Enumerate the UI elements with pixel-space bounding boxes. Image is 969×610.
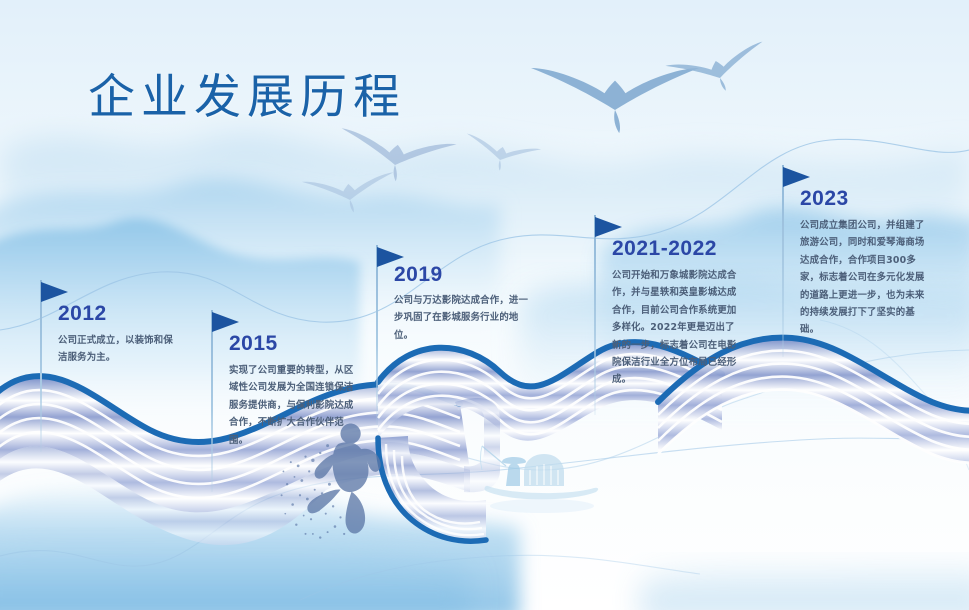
flag-marker-2023: [783, 167, 810, 187]
milestone-2012: 2012 公司正式成立，以装饰和保洁服务为主。: [40, 280, 200, 460]
milestone-text-2023: 公司成立集团公司，并组建了旅游公司，同时和爱琴海商场达成合作，合作项目300多家…: [800, 217, 928, 339]
milestone-2021-2022: 2021-2022 公司开始和万象城影院达成合作，并与星轶和英皇影城达成合作，目…: [594, 215, 784, 425]
milestone-2023: 2023 公司成立集团公司，并组建了旅游公司，同时和爱琴海商场达成合作，合作项目…: [782, 165, 967, 365]
milestone-text-2012: 公司正式成立，以装饰和保洁服务为主。: [58, 332, 176, 367]
milestone-text-2021-2022: 公司开始和万象城影院达成合作，并与星轶和英皇影城达成合作，目前公司合作系统更加多…: [612, 267, 740, 389]
year-label-2019: 2019: [394, 263, 443, 287]
flag-marker-2015: [212, 312, 239, 332]
milestone-text-2019: 公司与万达影院达成合作，进一步巩固了在影城服务行业的地位。: [394, 292, 534, 344]
flag-marker-2012: [41, 282, 68, 302]
seagull-icon: [665, 42, 771, 104]
seagull-icon: [335, 128, 456, 189]
year-label-2015: 2015: [229, 332, 278, 356]
year-label-2021-2022: 2021-2022: [612, 237, 717, 261]
flag-marker-2021-2022: [595, 217, 622, 237]
flag-pole-2015: [211, 310, 213, 492]
flag-pole-2021-2022: [594, 215, 596, 415]
flag-pole-2023: [782, 165, 784, 357]
page-title: 企业发展历程: [88, 58, 406, 127]
seagull-icon: [461, 134, 541, 179]
milestone-2015: 2015 实现了公司重要的转型，从区域性公司发展为全国连锁保洁服务提供商，与保利…: [211, 310, 381, 500]
seagull-icon: [302, 172, 397, 217]
milestone-text-2015: 实现了公司重要的转型，从区域性公司发展为全国连锁保洁服务提供商，与保利影院达成合…: [229, 362, 357, 449]
seagull-icon: [531, 68, 699, 133]
year-label-2023: 2023: [800, 187, 849, 211]
flag-pole-2012: [40, 280, 42, 452]
poster-canvas: 2012 公司正式成立，以装饰和保洁服务为主。 2015 实现了公司重要的转型，…: [0, 0, 969, 610]
flag-pole-2019: [376, 245, 378, 425]
milestone-2019: 2019 公司与万达影院达成合作，进一步巩固了在影城服务行业的地位。: [376, 245, 556, 435]
year-label-2012: 2012: [58, 302, 107, 326]
